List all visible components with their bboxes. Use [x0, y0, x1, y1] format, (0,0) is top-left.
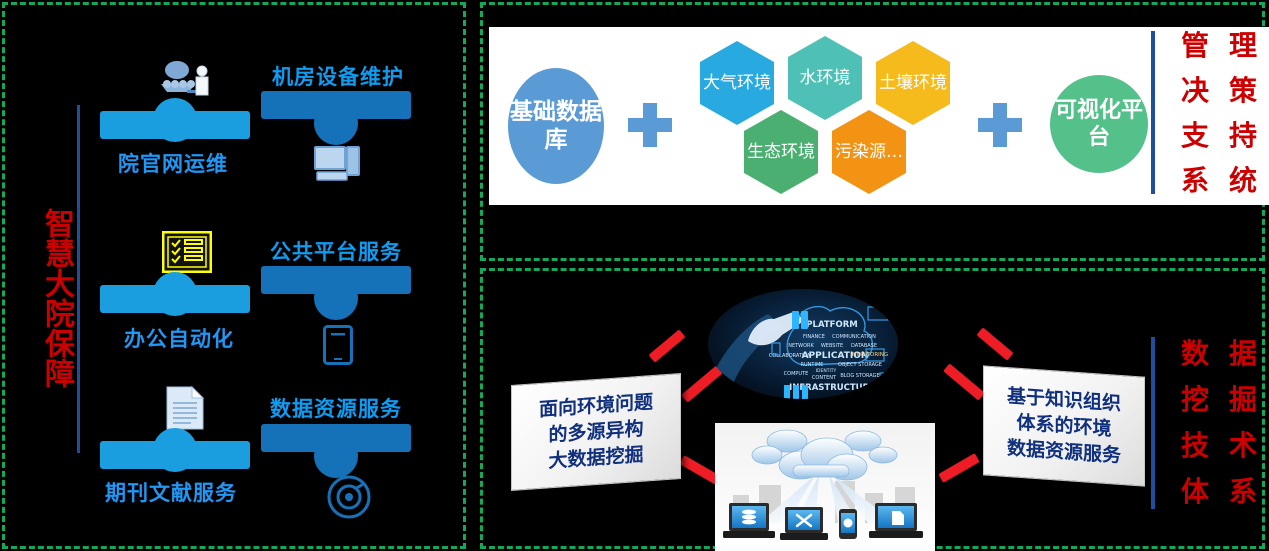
top-right-divider: [1151, 31, 1155, 194]
title-char: 掘: [1219, 377, 1267, 423]
title-char: 据: [1219, 331, 1267, 377]
visualization-platform-ellipse: 可视化平台: [1050, 75, 1148, 173]
red-connector-segment: [943, 363, 985, 400]
desktop-computer-icon: [314, 145, 362, 185]
svg-text:BLOG STORAGE: BLOG STORAGE: [840, 373, 879, 379]
svg-text:CONTENT: CONTENT: [812, 375, 837, 381]
svg-text:INFRASTRUCTURE: INFRASTRUCTURE: [789, 383, 875, 393]
left-label-1-dark: 机房设备维护: [272, 61, 404, 91]
title-char: 统: [1219, 158, 1267, 203]
svg-text:DATABASE: DATABASE: [851, 343, 877, 349]
bar-knob: [314, 434, 358, 478]
title-char: 数: [1171, 331, 1219, 377]
bar-body: [100, 111, 250, 139]
title-char: 管: [1171, 23, 1219, 68]
svg-text:FINANCE: FINANCE: [803, 334, 825, 340]
disc-icon: [325, 475, 373, 519]
callout-right: 基于知识组织 体系的环境 数据资源服务: [983, 365, 1145, 486]
svg-text:PLATFORM: PLATFORM: [806, 320, 857, 330]
bottom-right-panel: PLATFORM FINANCE COMMUNICATION NETWORK W…: [480, 268, 1265, 549]
svg-text:MONITORING: MONITORING: [852, 352, 888, 358]
red-connector-segment: [681, 365, 723, 402]
callout-left-text: 面向环境问题 的多源异构 大数据挖掘: [539, 389, 653, 475]
red-connector-segment: [976, 327, 1013, 360]
title-char: 系: [1219, 469, 1267, 515]
title-char: 持: [1219, 113, 1267, 158]
left-label-2-dark: 公共平台服务: [270, 236, 402, 266]
title-char: 术: [1219, 423, 1267, 469]
svg-text:WEBSITE: WEBSITE: [821, 343, 843, 349]
left-label-1-light: 院官网运维: [118, 148, 228, 178]
bar-row2-dark: [261, 266, 411, 312]
bar-body: [100, 441, 250, 469]
title-char: 决: [1171, 68, 1219, 113]
left-label-3-dark: 数据资源服务: [270, 393, 402, 423]
bar-knob: [314, 101, 358, 145]
cloud-computing-photo: PLATFORM FINANCE COMMUNICATION NETWORK W…: [708, 289, 898, 399]
left-label-3-light: 期刊文献服务: [105, 477, 237, 507]
base-database-ellipse: 基础数据库: [508, 68, 604, 184]
title-char: 系: [1171, 158, 1219, 203]
callout-left: 面向环境问题 的多源异构 大数据挖掘: [511, 373, 681, 491]
title-char: 体: [1171, 469, 1219, 515]
bar-body: [100, 285, 250, 313]
tablet-icon: [323, 325, 353, 367]
bar-row3-light: [100, 423, 250, 469]
callout-right-text: 基于知识组织 体系的环境 数据资源服务: [1007, 383, 1121, 469]
left-label-2-light: 办公自动化: [124, 323, 234, 353]
svg-text:RUNTIME: RUNTIME: [801, 362, 824, 368]
bottom-right-divider: [1151, 337, 1155, 509]
title-char: 策: [1219, 68, 1267, 113]
left-panel: 智慧大院保障 院官网运维 机房设备维护: [2, 2, 466, 549]
bar-row1-light: [100, 93, 250, 139]
bar-row2-light: [100, 267, 250, 313]
svg-text:COMMUNICATION: COMMUNICATION: [832, 334, 876, 340]
red-connector-segment: [648, 329, 685, 362]
bar-row3-dark: [261, 424, 411, 470]
title-char: 理: [1219, 23, 1267, 68]
svg-text:IDENTITY: IDENTITY: [816, 368, 837, 374]
plus-icon-1: [628, 103, 672, 147]
title-char: 挖: [1171, 377, 1219, 423]
bar-knob: [314, 276, 358, 320]
cloud-network-devices-image: [715, 423, 935, 551]
top-right-title-grid: 管 理 决 策 支 持 系 统: [1171, 23, 1267, 203]
left-panel-divider: [77, 105, 80, 453]
title-char: 支: [1171, 113, 1219, 158]
red-connector-segment: [938, 453, 979, 483]
bottom-right-title-grid: 数 据 挖 掘 技 术 体 系: [1171, 331, 1267, 515]
svg-text:NETWORK: NETWORK: [788, 343, 814, 349]
top-right-panel: 基础数据库 大气环境 水环境 土壤环境 生态环境 污染源… 可视化平台 管 理 …: [480, 2, 1265, 261]
bar-row1-dark: [261, 91, 411, 137]
title-char: 技: [1171, 423, 1219, 469]
svg-text:COMPUTE: COMPUTE: [784, 371, 809, 377]
plus-icon-2: [978, 103, 1022, 147]
svg-text:OBJECT STORAGE: OBJECT STORAGE: [838, 362, 882, 368]
left-panel-vertical-title: 智慧大院保障: [19, 153, 75, 443]
